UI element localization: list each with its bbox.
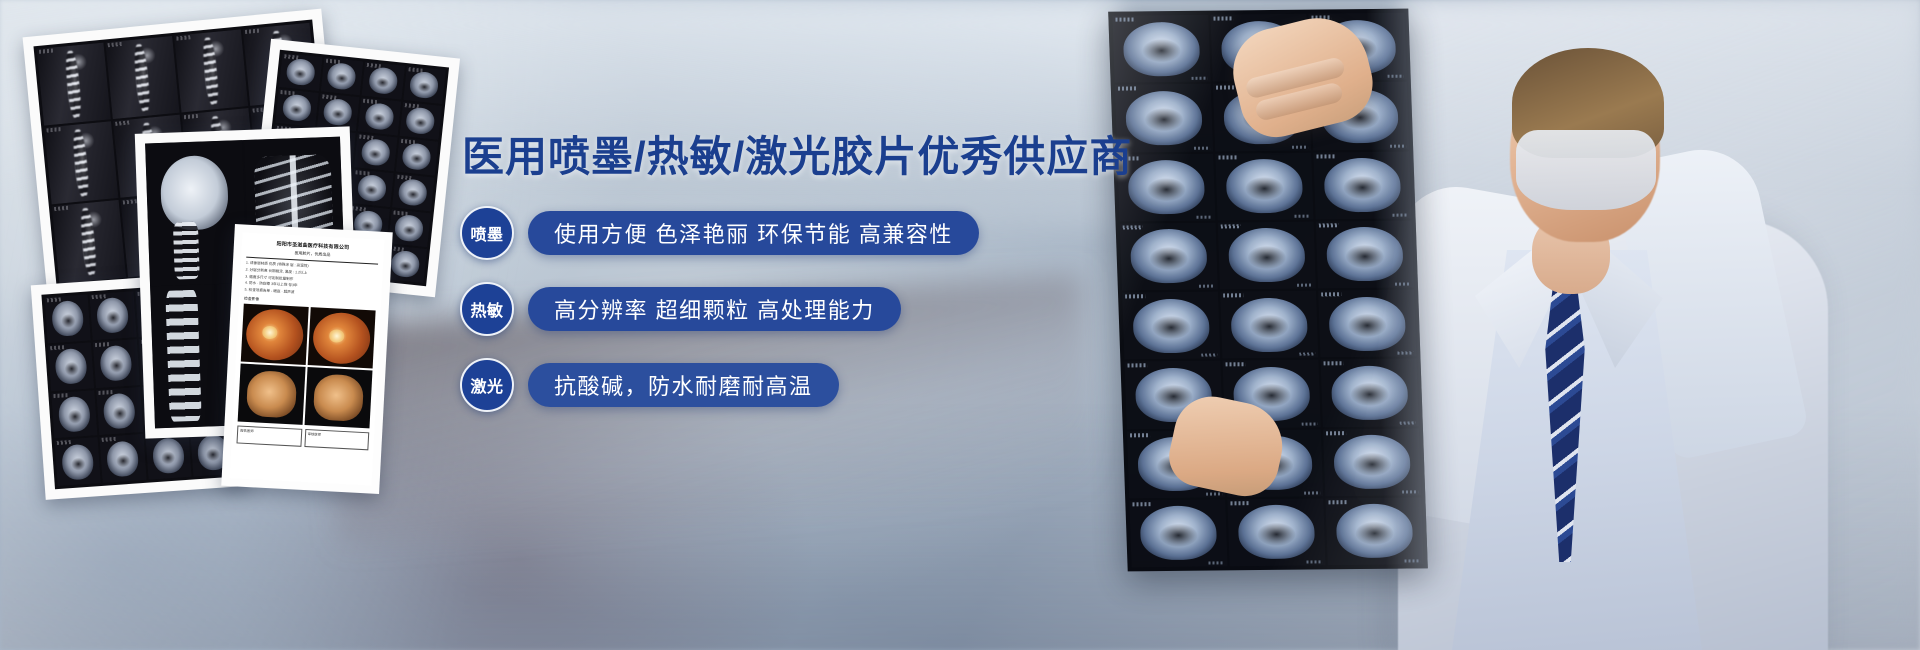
- ultrasound-photo-2: [305, 367, 373, 428]
- film-collage: 阳阳市圣滋曲医疗科技有限公司 医用胶片，优质出品 1. 成像层材质 优质 (特殊…: [0, 0, 420, 520]
- feature-row-laser: 激光 抗酸碱，防水耐磨耐高温: [460, 358, 1080, 412]
- medical-film-banner: 阳阳市圣滋曲医疗科技有限公司 医用胶片，优质出品 1. 成像层材质 优质 (特殊…: [0, 0, 1920, 650]
- feature-row-inkjet: 喷墨 使用方便 色泽艳丽 环保节能 高兼容性: [460, 206, 1080, 260]
- fundus-photo-1: [241, 304, 309, 365]
- feature-pill-inkjet: 使用方便 色泽艳丽 环保节能 高兼容性: [528, 211, 979, 255]
- feature-pill-laser: 抗酸碱，防水耐磨耐高温: [528, 363, 839, 407]
- banner-content: 医用喷墨/热敏/激光胶片优秀供应商 喷墨 使用方便 色泽艳丽 环保节能 高兼容性…: [460, 132, 1080, 434]
- ultrasound-photo-1: [238, 364, 306, 425]
- fundus-photo-2: [308, 307, 376, 368]
- doctor-scene: [1080, 0, 1920, 650]
- doctor-face-mask: [1516, 130, 1656, 210]
- report-footer-right-label: 审核医师: [305, 430, 368, 440]
- skull-xray-cell: [145, 140, 246, 286]
- badge-laser: 激光: [460, 358, 514, 412]
- spine-xray-cell: [150, 284, 219, 429]
- page-title: 医用喷墨/热敏/激光胶片优秀供应商: [462, 132, 1080, 182]
- feature-pill-thermal: 高分辨率 超细颗粒 高处理能力: [528, 287, 901, 331]
- feature-row-thermal: 热敏 高分辨率 超细颗粒 高处理能力: [460, 282, 1080, 336]
- report-doctor-box: 报告医师: [236, 426, 301, 447]
- report-image-grid: [238, 304, 376, 429]
- report-lines: 1. 成像层材质 优质 (特殊涂 层 : 高温性) 2. 分层分剥离 长期稳定,…: [244, 260, 378, 301]
- report-reviewer-box: 审核医师: [304, 429, 369, 450]
- badge-inkjet: 喷墨: [460, 206, 514, 260]
- report-inner: 阳阳市圣滋曲医疗科技有限公司 医用胶片，优质出品 1. 成像层材质 优质 (特殊…: [230, 232, 385, 485]
- report-footer-left-label: 报告医师: [238, 427, 301, 437]
- report-footer: 报告医师 审核医师: [236, 426, 369, 451]
- badge-thermal: 热敏: [460, 282, 514, 336]
- medical-report-sheet: 阳阳市圣滋曲医疗科技有限公司 医用胶片，优质出品 1. 成像层材质 优质 (特殊…: [221, 224, 392, 494]
